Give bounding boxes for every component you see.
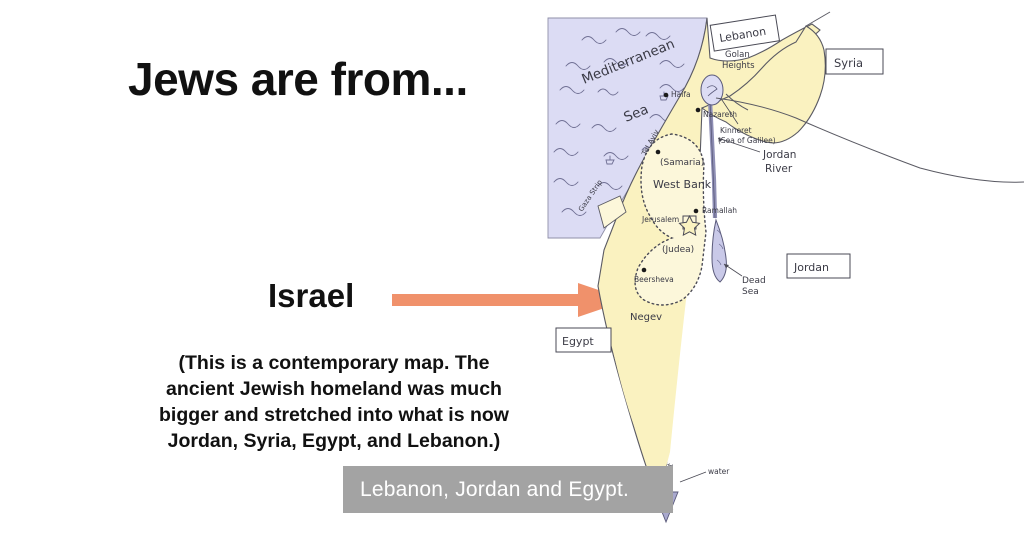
map-image: Mediterranean Sea xyxy=(520,0,1024,535)
kinneret-label-1: Kinneret xyxy=(720,126,752,135)
jerusalem-label: Jerusalem xyxy=(641,215,679,224)
jordan-river-label-1: Jordan xyxy=(762,149,796,161)
beersheva-label: Beersheva xyxy=(634,275,674,284)
judea-label: (Judea) xyxy=(662,245,694,255)
note-line-4: Jordan, Syria, Egypt, and Lebanon.) xyxy=(108,428,560,454)
page-title: Jews are from... xyxy=(128,52,468,106)
caption-text: Lebanon, Jordan and Egypt. xyxy=(343,478,629,502)
haifa-dot xyxy=(664,93,669,98)
golan-heights-label-2: Heights xyxy=(722,61,755,71)
egypt-label-text: Egypt xyxy=(562,335,594,348)
jordan-label-text: Jordan xyxy=(793,261,829,274)
note-line-1: (This is a contemporary map. The xyxy=(108,350,560,376)
syria-label-text: Syria xyxy=(834,56,863,70)
ramallah-dot xyxy=(694,209,699,214)
negev-label: Negev xyxy=(630,312,662,323)
red-sea-water-label: water xyxy=(708,467,730,476)
nazareth-dot xyxy=(696,108,701,113)
beersheva-dot xyxy=(642,268,647,273)
israel-callout-label: Israel xyxy=(268,277,354,315)
slide-canvas: Jews are from... Israel (This is a conte… xyxy=(0,0,1024,535)
note-line-3: bigger and stretched into what is now xyxy=(108,402,560,428)
golan-heights-label-1: Golan xyxy=(725,50,750,60)
west-bank-label: West Bank xyxy=(653,178,712,191)
caption-bar: Lebanon, Jordan and Egypt. xyxy=(343,466,673,513)
samaria-label: (Samaria) xyxy=(660,158,704,168)
dead-sea-label-1: Dead xyxy=(742,276,766,286)
dead-sea-shape xyxy=(712,220,726,282)
ramallah-label: Ramallah xyxy=(702,206,737,215)
haifa-label: Haifa xyxy=(671,90,691,99)
jordan-river-label-2: River xyxy=(765,163,793,175)
kinneret-shape xyxy=(701,75,723,105)
dead-sea-label-2: Sea xyxy=(742,287,759,297)
note-line-2: ancient Jewish homeland was much xyxy=(108,376,560,402)
tel-aviv-dot xyxy=(656,150,661,155)
note-paragraph: (This is a contemporary map. The ancient… xyxy=(108,350,560,454)
